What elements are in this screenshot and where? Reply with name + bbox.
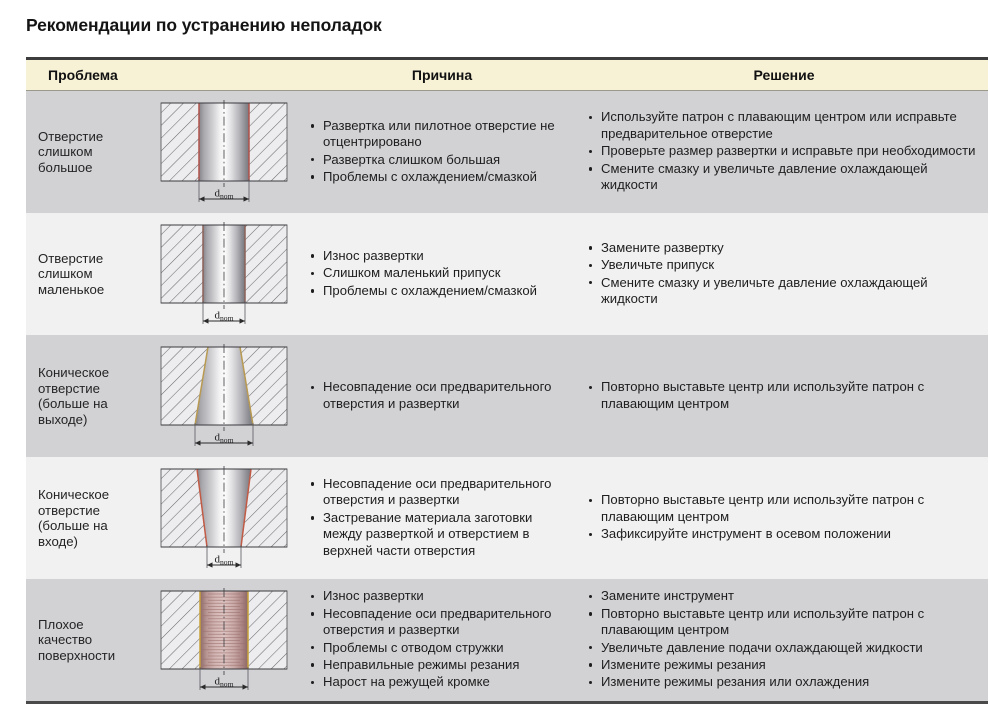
table-header: Проблема Причина Решение [26, 59, 988, 91]
solution-cell-list: Замените инструментПовторно выставьте це… [588, 588, 980, 690]
list-item: Измените режимы резания [588, 657, 980, 673]
cause-cell-list: Несовпадение оси предварительного отверс… [310, 379, 574, 412]
figure-cell: dnom [144, 335, 304, 457]
table-row: Плохое качество поверхности [26, 579, 988, 703]
list-item: Проблемы с охлаждением/смазкой [310, 283, 574, 299]
list-item: Развертка слишком большая [310, 152, 574, 168]
problem-cell: Отверстие слишком большое [26, 91, 144, 214]
solution-cell-list: Используйте патрон с плавающим центром и… [588, 109, 980, 193]
table-body: Отверстие слишком большое [26, 91, 988, 703]
list-item: Нарост на режущей кромке [310, 674, 574, 690]
list-item: Повторно выставьте центр или используйте… [588, 606, 980, 639]
solution-cell-list: Замените разверткуУвеличьте припускСмени… [588, 240, 980, 308]
list-item: Увеличьте давление подачи охлаждающей жи… [588, 640, 980, 656]
figure-cell: dnom [144, 213, 304, 335]
cause-cell: Несовпадение оси предварительного отверс… [304, 335, 580, 457]
list-item: Неправильные режимы резания [310, 657, 574, 673]
cause-cell-list: Износ разверткиСлишком маленький припуск… [310, 248, 574, 299]
list-item: Проверьте размер развертки и исправьте п… [588, 143, 980, 159]
list-item: Развертка или пилотное отверстие не отце… [310, 118, 574, 151]
column-header-cause: Причина [304, 59, 580, 91]
problem-cell: Отверстие слишком маленькое [26, 213, 144, 335]
list-item: Проблемы с охлаждением/смазкой [310, 169, 574, 185]
list-item: Проблемы с отводом стружки [310, 640, 574, 656]
tapered-bore-wider-at-entry-diagram: dnom [149, 465, 299, 573]
solution-cell: Повторно выставьте центр или используйте… [580, 335, 988, 457]
svg-text:dnom: dnom [214, 432, 233, 445]
table-row: Отверстие слишком большое [26, 91, 988, 214]
cause-cell: Износ разверткиНесовпадение оси предвари… [304, 579, 580, 703]
solution-cell: Используйте патрон с плавающим центром и… [580, 91, 988, 214]
solution-cell-list: Повторно выставьте центр или используйте… [588, 492, 980, 542]
cause-cell-list: Износ разверткиНесовпадение оси предвари… [310, 588, 574, 690]
list-item: Повторно выставьте центр или используйте… [588, 492, 980, 525]
list-item: Смените смазку и увеличьте давление охла… [588, 275, 980, 308]
column-header-problem: Проблема [26, 59, 304, 91]
problem-cell: Коническое отверстие (больше на выходе) [26, 335, 144, 457]
list-item: Слишком маленький припуск [310, 265, 574, 281]
list-item: Замените развертку [588, 240, 980, 256]
figure-cell: dnom [144, 579, 304, 703]
page-title: Рекомендации по устранению неполадок [26, 15, 382, 36]
list-item: Увеличьте припуск [588, 257, 980, 273]
table-row: Коническое отверстие (больше на выходе) [26, 335, 988, 457]
troubleshooting-table: Проблема Причина Решение Отверстие слишк… [26, 57, 988, 704]
cause-cell: Несовпадение оси предварительного отверс… [304, 457, 580, 579]
cause-cell: Износ разверткиСлишком маленький припуск… [304, 213, 580, 335]
svg-text:dnom: dnom [214, 676, 233, 689]
list-item: Несовпадение оси предварительного отверс… [310, 379, 574, 412]
solution-cell: Замените инструментПовторно выставьте це… [580, 579, 988, 703]
rough-surface-bore-diagram: dnom [149, 587, 299, 695]
svg-text:dnom: dnom [214, 554, 233, 567]
straight-bore-undersized-diagram: dnom [149, 221, 299, 329]
list-item: Износ развертки [310, 588, 574, 604]
cause-cell-list: Развертка или пилотное отверстие не отце… [310, 118, 574, 186]
tapered-bore-wider-at-exit-diagram: dnom [149, 343, 299, 451]
list-item: Несовпадение оси предварительного отверс… [310, 606, 574, 639]
list-item: Повторно выставьте центр или используйте… [588, 379, 980, 412]
list-item: Используйте патрон с плавающим центром и… [588, 109, 980, 142]
list-item: Смените смазку и увеличьте давление охла… [588, 161, 980, 194]
list-item: Замените инструмент [588, 588, 980, 604]
solution-cell-list: Повторно выставьте центр или используйте… [588, 379, 980, 412]
table-row: Коническое отверстие (больше на входе) [26, 457, 988, 579]
column-header-solution: Решение [580, 59, 988, 91]
table-row: Отверстие слишком маленькое [26, 213, 988, 335]
solution-cell: Повторно выставьте центр или используйте… [580, 457, 988, 579]
list-item: Застревание материала заготовки между ра… [310, 510, 574, 559]
list-item: Несовпадение оси предварительного отверс… [310, 476, 574, 509]
svg-text:dnom: dnom [214, 310, 233, 323]
cause-cell-list: Несовпадение оси предварительного отверс… [310, 476, 574, 559]
problem-cell: Коническое отверстие (больше на входе) [26, 457, 144, 579]
problem-cell: Плохое качество поверхности [26, 579, 144, 703]
solution-cell: Замените разверткуУвеличьте припускСмени… [580, 213, 988, 335]
svg-text:dnom: dnom [214, 188, 233, 201]
figure-cell: dnom [144, 457, 304, 579]
list-item: Измените режимы резания или охлаждения [588, 674, 980, 690]
figure-cell: dnom [144, 91, 304, 214]
cause-cell: Развертка или пилотное отверстие не отце… [304, 91, 580, 214]
header-row: Проблема Причина Решение [26, 59, 988, 91]
straight-bore-oversized-diagram: dnom [149, 99, 299, 207]
list-item: Зафиксируйте инструмент в осевом положен… [588, 526, 980, 542]
list-item: Износ развертки [310, 248, 574, 264]
